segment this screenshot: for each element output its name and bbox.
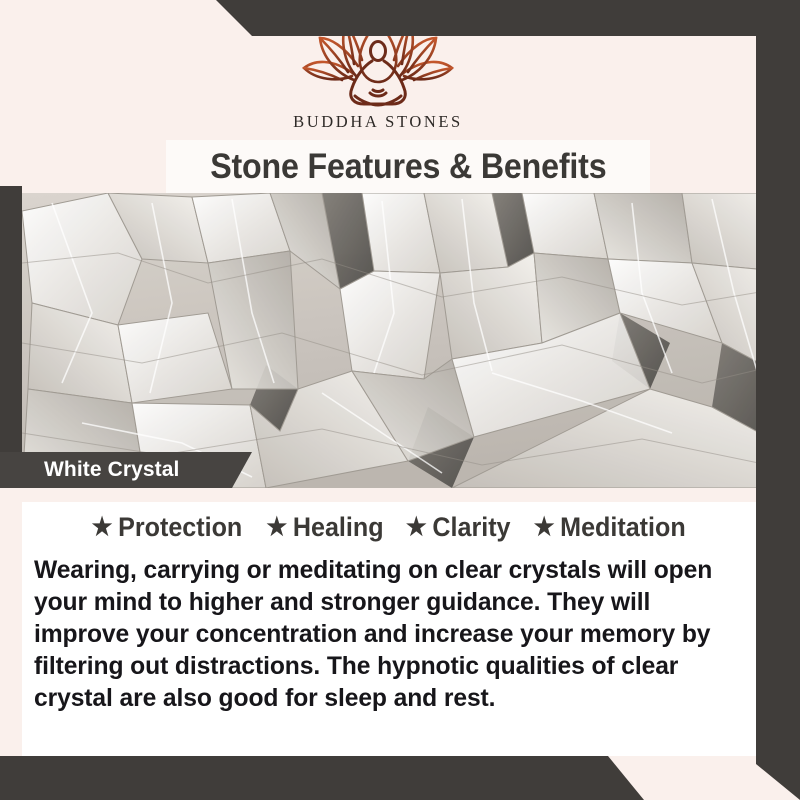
title-band: Stone Features & Benefits xyxy=(166,140,650,193)
benefit-label: Healing xyxy=(293,512,384,543)
benefit-item: ★ Healing xyxy=(266,512,383,543)
left-dark-strip xyxy=(0,186,22,488)
benefit-label: Meditation xyxy=(561,512,687,543)
stone-label-banner: White Crystal xyxy=(0,452,252,488)
benefit-label: Protection xyxy=(118,512,242,543)
star-icon: ★ xyxy=(406,515,427,540)
star-icon: ★ xyxy=(92,515,113,540)
description-text: Wearing, carrying or meditating on clear… xyxy=(34,554,727,714)
stone-label-text: White Crystal xyxy=(44,458,180,482)
bottom-dark-accent xyxy=(0,756,800,800)
content-panel: ★ Protection ★ Healing ★ Clarity ★ Medit… xyxy=(22,488,756,756)
benefit-item: ★ Meditation xyxy=(534,512,686,543)
benefit-item: ★ Clarity xyxy=(406,512,511,543)
hero-image xyxy=(22,193,778,488)
brand-name: BUDDHA STONES xyxy=(293,112,463,132)
page-title: Stone Features & Benefits xyxy=(210,147,606,187)
right-dark-accent xyxy=(756,0,800,800)
star-icon: ★ xyxy=(534,515,555,540)
content-top-strip xyxy=(22,488,756,502)
benefits-list: ★ Protection ★ Healing ★ Clarity ★ Medit… xyxy=(22,512,756,543)
benefit-label: Clarity xyxy=(432,512,510,543)
poster-canvas: BUDDHA STONES Stone Features & Benefits xyxy=(0,0,800,800)
star-icon: ★ xyxy=(266,515,287,540)
benefit-item: ★ Protection xyxy=(92,512,243,543)
